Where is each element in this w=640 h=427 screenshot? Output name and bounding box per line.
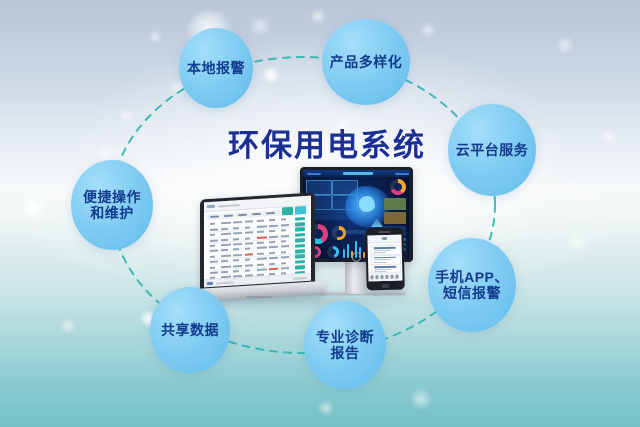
table-cell [269, 235, 278, 238]
table-cell [281, 224, 289, 227]
table-cell [221, 222, 231, 225]
table-cell [281, 235, 289, 238]
feature-bubble-line: 便捷操作 [79, 189, 145, 205]
monitor-brand-logo [352, 252, 361, 262]
table-cell [269, 252, 275, 254]
feature-bubble-label: 共享数据 [157, 322, 223, 338]
poster-canvas: 本地报警产品多样化云平台服务手机APP、短信报警专业诊断报告共享数据便捷操作和维… [0, 0, 640, 427]
table-cell [221, 254, 231, 257]
feature-bubble-line: 和维护 [79, 205, 145, 221]
table-cell [269, 219, 275, 221]
feature-bubble-easy-operation[interactable]: 便捷操作和维护 [71, 160, 153, 250]
table-cell [210, 261, 218, 264]
table-cell [269, 230, 275, 232]
status-badge [295, 233, 305, 237]
feature-bubble-label: 专业诊断报告 [312, 329, 378, 361]
table-cell [245, 253, 253, 256]
status-badge [295, 244, 305, 248]
table-cell [221, 233, 231, 236]
feature-bubble-line: 共享数据 [157, 322, 223, 338]
table-cell [233, 221, 242, 224]
table-cell [245, 237, 250, 239]
table-cell [221, 271, 228, 273]
table-cell [269, 224, 278, 227]
list-item-text [374, 259, 391, 261]
feature-bubble-line: 本地报警 [183, 60, 249, 76]
table-cell [269, 246, 278, 249]
table-cell [245, 259, 250, 261]
table-cell [281, 267, 289, 270]
table-cell [245, 269, 250, 271]
table-cell [257, 242, 264, 244]
table-cell [221, 260, 228, 262]
table-cell [221, 265, 231, 268]
table-cell [245, 221, 253, 224]
feature-bubble-label: 云平台服务 [452, 142, 533, 158]
table-cell [245, 231, 253, 234]
table-cell [233, 249, 239, 251]
table-cell [210, 228, 218, 231]
monitor-neck [345, 262, 367, 294]
feature-bubble-cloud-platform[interactable]: 云平台服务 [448, 104, 536, 196]
table-cell [210, 255, 215, 257]
table-cell [210, 223, 215, 225]
phone-screen[interactable] [367, 235, 402, 282]
table-cell [233, 265, 242, 268]
page-title: 环保用电系统 [228, 120, 426, 165]
feature-bubble-line: 手机APP、 [431, 269, 513, 285]
table-cell [233, 270, 239, 272]
table-cell [281, 262, 286, 264]
status-badge [295, 238, 305, 242]
feature-bubble-label: 便捷操作和维护 [79, 189, 145, 221]
table-cell [281, 229, 286, 231]
table-cell [257, 236, 267, 239]
status-badge [295, 254, 305, 258]
table-cell [245, 242, 253, 245]
table-cell [233, 232, 242, 235]
table-cell [257, 247, 267, 250]
table-cell [281, 219, 286, 221]
table-cell [257, 225, 267, 228]
feature-bubble-shared-data[interactable]: 共享数据 [150, 287, 230, 373]
table-cell [281, 240, 286, 242]
table-cell [245, 226, 250, 228]
feature-bubble-label: 手机APP、短信报警 [431, 269, 513, 301]
feature-bubble-label: 本地报警 [183, 60, 249, 76]
table-cell [269, 262, 275, 264]
feature-bubble-line: 短信报警 [431, 285, 513, 301]
table-cell [221, 228, 228, 230]
table-cell [233, 243, 242, 246]
feature-bubble-diagnostic-report[interactable]: 专业诊断报告 [304, 301, 386, 389]
feature-bubble-line: 专业诊断 [312, 329, 378, 345]
feature-bubble-local-alarm[interactable]: 本地报警 [179, 28, 253, 108]
table-cell [233, 238, 239, 240]
table-cell [221, 244, 231, 247]
feature-bubble-mobile-app-sms[interactable]: 手机APP、短信报警 [428, 238, 516, 332]
table-cell [245, 264, 253, 267]
status-badge [295, 260, 305, 264]
table-cell [257, 231, 264, 233]
table-cell [233, 259, 239, 261]
status-badge [295, 222, 305, 226]
table-cell [221, 249, 228, 251]
status-badge [295, 227, 305, 231]
table-cell [281, 251, 286, 253]
feature-bubble-label: 产品多样化 [326, 54, 407, 70]
table-cell [269, 268, 278, 271]
table-cell [269, 257, 278, 260]
status-badge [295, 265, 305, 269]
table-cell [257, 252, 264, 254]
table-cell [210, 266, 215, 268]
table-cell [269, 241, 275, 243]
laptop-screen[interactable] [204, 196, 311, 288]
list-item-text [374, 252, 386, 254]
table-cell [233, 254, 242, 257]
table-cell [221, 238, 228, 240]
table-cell [281, 256, 289, 259]
table-cell [210, 250, 218, 253]
table-cell [210, 245, 215, 247]
phone-earpiece [378, 231, 390, 233]
status-badge [295, 249, 305, 253]
table-cell [210, 239, 218, 242]
table-cell [257, 220, 264, 222]
feature-bubble-line: 报告 [312, 345, 378, 361]
feature-bubble-line: 云平台服务 [452, 142, 533, 158]
list-item-text [374, 261, 386, 263]
status-badge [295, 217, 305, 221]
list-item-text [374, 250, 391, 252]
laptop-lid [200, 192, 315, 291]
phone-home-button[interactable] [382, 284, 390, 288]
table-cell [210, 234, 215, 236]
table-cell [245, 248, 250, 250]
table-cell [233, 227, 239, 229]
feature-bubble-product-diversity[interactable]: 产品多样化 [322, 19, 410, 105]
table-cell [281, 245, 289, 248]
table-cell [210, 271, 218, 274]
table-cell [257, 263, 264, 265]
list-item-text [374, 269, 391, 271]
smartphone[interactable] [365, 228, 405, 291]
table-cell [257, 268, 267, 271]
feature-bubble-line: 产品多样化 [326, 54, 407, 70]
table-cell [257, 258, 267, 261]
